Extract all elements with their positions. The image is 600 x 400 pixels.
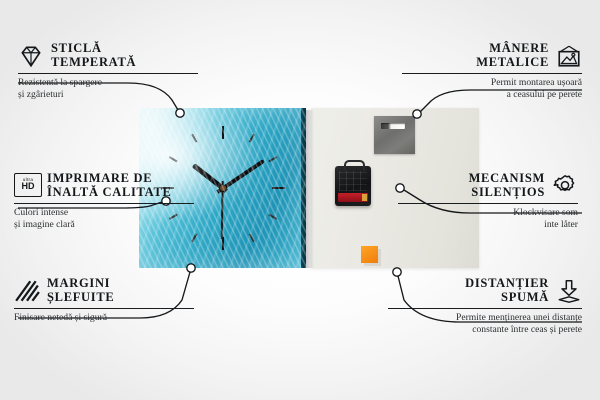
mechanism-loop <box>344 160 365 171</box>
clock-minute-hand <box>216 159 265 194</box>
callout-divider <box>402 73 582 74</box>
hanger-slot <box>381 123 405 129</box>
callout-divider <box>398 203 578 204</box>
callout-divider <box>14 308 194 309</box>
clock-tick <box>222 188 224 250</box>
foam-spacer <box>361 246 378 263</box>
clock-hour-hand <box>192 163 228 193</box>
clock-tick <box>222 126 224 188</box>
callout-subtitle: Rezistentă la spargereși zgârieturi <box>18 77 198 100</box>
clock-tick <box>191 188 224 243</box>
clock-hub <box>220 185 226 191</box>
callout-mecanism-silentios[interactable]: MECANISMSILENȚIOS Klockvisare sominte lå… <box>398 172 578 230</box>
callout-divider <box>14 203 194 204</box>
callout-distantier-spuma[interactable]: DISTANȚIERSPUMĂ Permite menținerea unei … <box>388 277 582 335</box>
callout-subtitle: Klockvisare sominte låter <box>398 207 578 230</box>
callout-title: MÂNEREMETALICE <box>476 42 549 69</box>
callout-title: MARGINIȘLEFUITE <box>47 277 114 304</box>
callout-manere-metalice[interactable]: MÂNEREMETALICE Permit montarea ușoarăa c… <box>402 42 582 100</box>
battery <box>338 193 368 202</box>
callout-margini-slefuite[interactable]: MARGINIȘLEFUITE Finisare netedă și sigur… <box>14 277 194 324</box>
clock-second-hand <box>221 181 224 239</box>
infographic-canvas: STICLĂTEMPERATĂ Rezistentă la spargereși… <box>0 0 600 400</box>
clock-mechanism <box>335 166 371 206</box>
callout-title: IMPRIMARE DEÎNALTĂ CALITATE <box>47 172 172 199</box>
callout-header: ultra HD IMPRIMARE DEÎNALTĂ CALITATE <box>14 172 194 199</box>
clock-tick <box>222 187 277 220</box>
callout-subtitle: Finisare netedă și sigură <box>14 312 194 324</box>
glass-edge <box>301 108 306 268</box>
callout-title: MECANISMSILENȚIOS <box>469 172 545 199</box>
clock-tick <box>222 188 255 243</box>
clock-tick <box>223 187 285 189</box>
callout-subtitle: Culori intenseși imagine clară <box>14 207 194 230</box>
callout-subtitle: Permit montarea ușoarăa ceasului pe pere… <box>402 77 582 100</box>
callout-divider <box>18 73 198 74</box>
clock-tick <box>191 134 224 189</box>
callout-header: MÂNEREMETALICE <box>402 42 582 69</box>
metal-hanger-plate <box>374 116 415 154</box>
diamond-icon <box>18 43 44 69</box>
hd-label: HD <box>22 182 35 191</box>
callout-subtitle: Permite menținerea unei distanțeconstant… <box>388 312 582 335</box>
callout-imprimare-inalta-calitate[interactable]: ultra HD IMPRIMARE DEÎNALTĂ CALITATE Cul… <box>14 172 194 230</box>
gear-icon <box>552 173 578 199</box>
callout-header: DISTANȚIERSPUMĂ <box>388 277 582 304</box>
callout-divider <box>388 308 582 309</box>
callout-header: MARGINIȘLEFUITE <box>14 277 194 304</box>
ultra-hd-icon: ultra HD <box>14 173 40 199</box>
panel-shadow <box>306 110 314 268</box>
down-arrow-stack-icon <box>556 278 582 304</box>
callout-title: DISTANȚIERSPUMĂ <box>465 277 549 304</box>
callout-sticla-temperata[interactable]: STICLĂTEMPERATĂ Rezistentă la spargereși… <box>18 42 198 100</box>
diagonal-stripes-icon <box>14 278 40 304</box>
mechanism-texture <box>339 171 367 191</box>
callout-title: STICLĂTEMPERATĂ <box>51 42 136 69</box>
clock-tick <box>222 156 277 189</box>
battery-terminal <box>362 194 367 201</box>
callout-header: MECANISMSILENȚIOS <box>398 172 578 199</box>
picture-hanger-icon <box>556 43 582 69</box>
callout-header: STICLĂTEMPERATĂ <box>18 42 198 69</box>
clock-tick <box>222 134 255 189</box>
